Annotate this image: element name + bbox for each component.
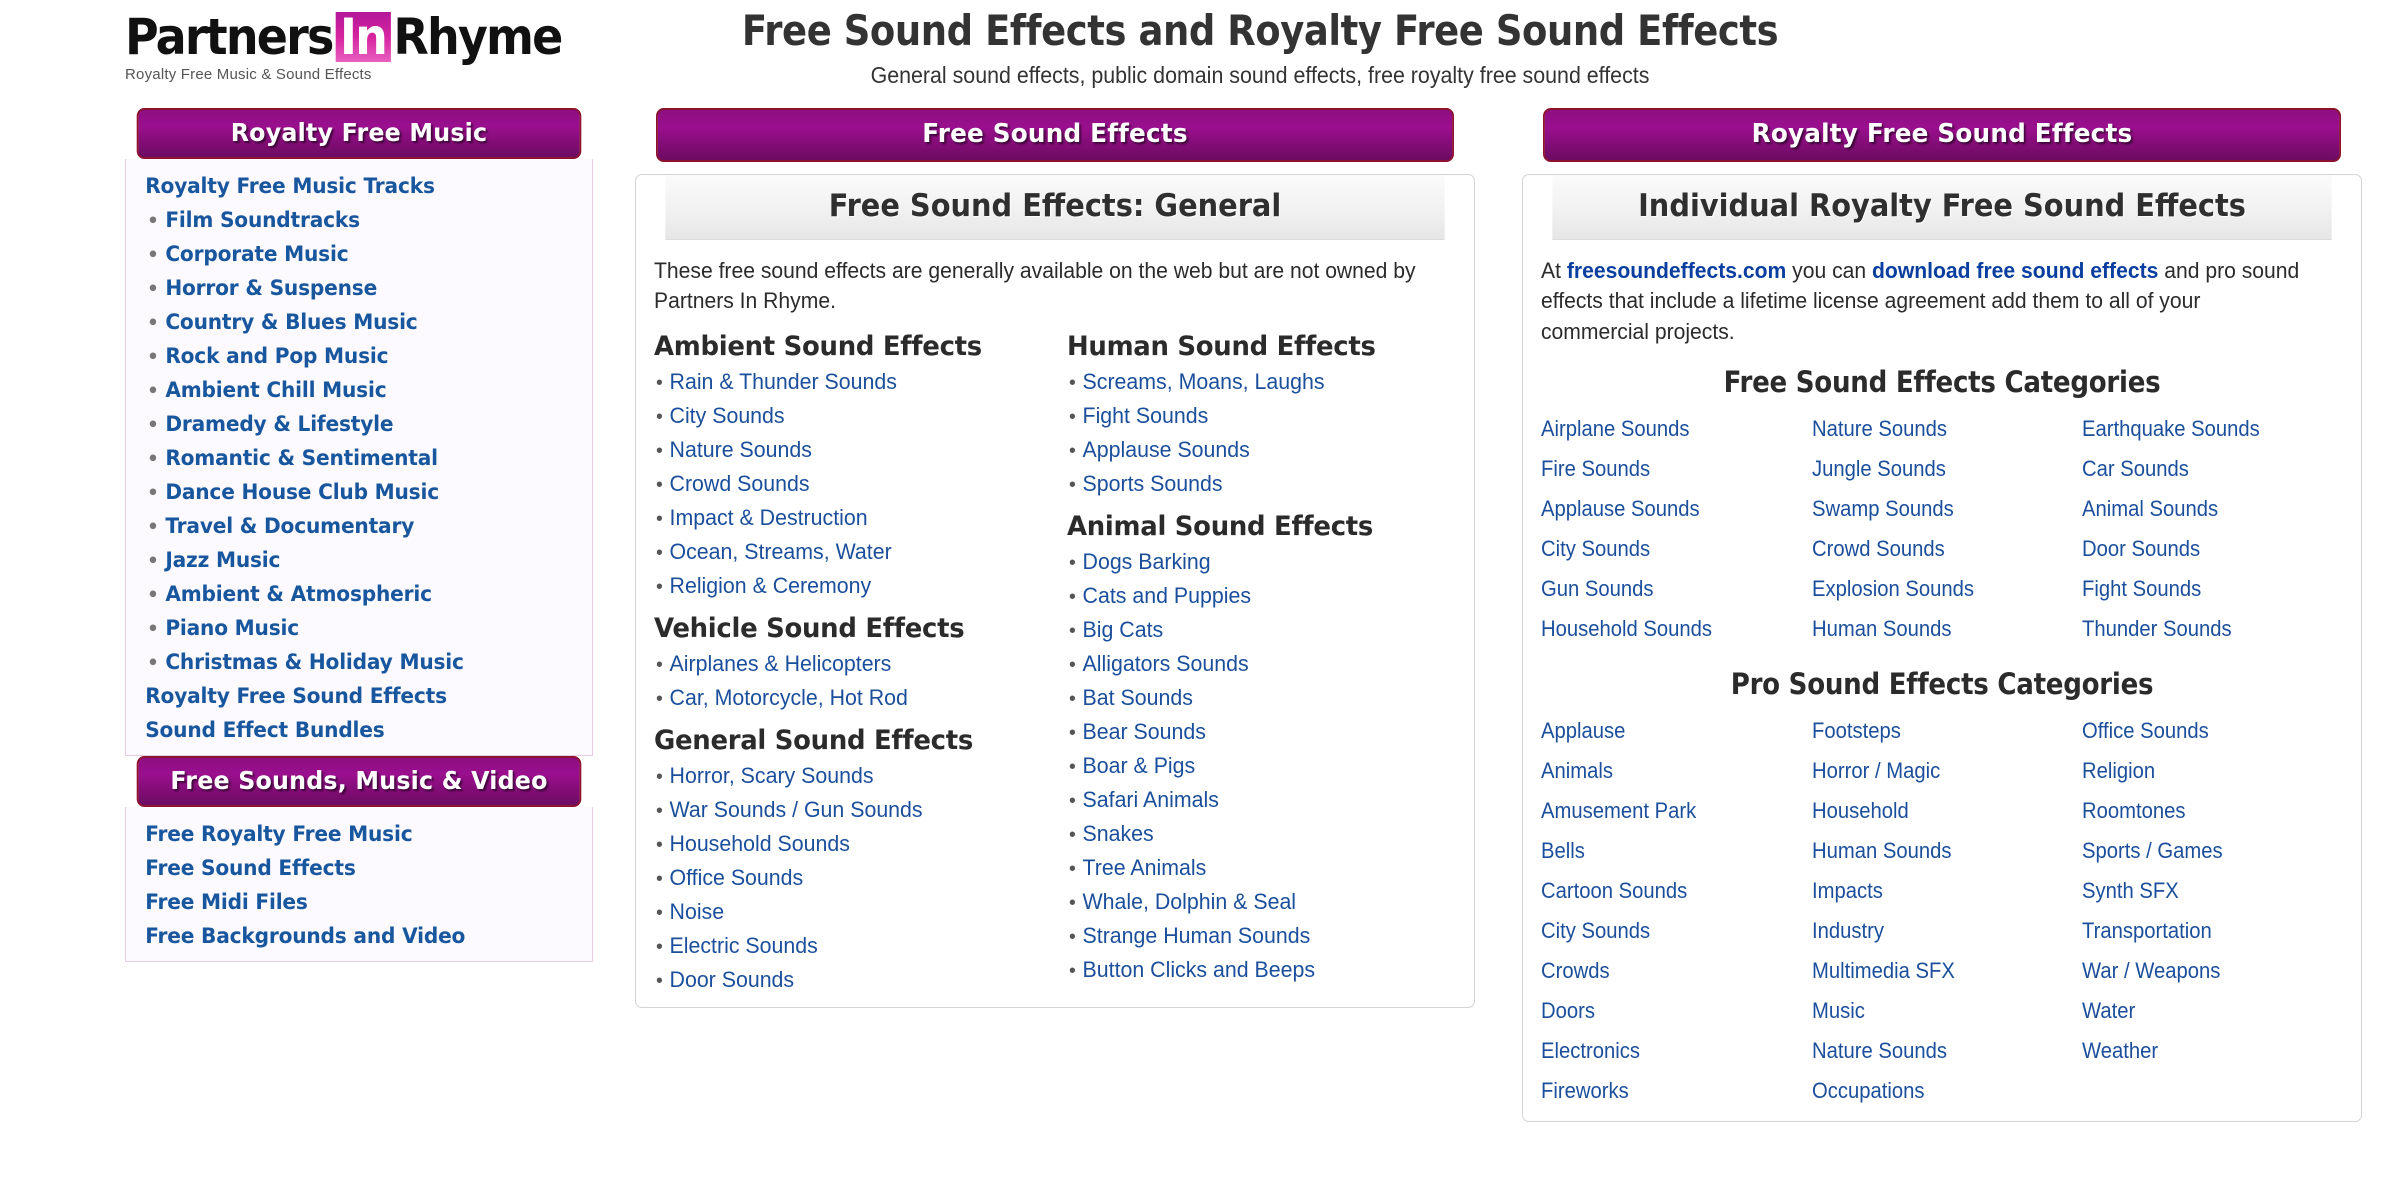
sfx-link-war-sounds-gun-sounds[interactable]: War Sounds / Gun Sounds <box>654 793 1031 827</box>
sfx-link-city-sounds[interactable]: City Sounds <box>654 399 1031 433</box>
intro-prefix: At <box>1541 258 1567 283</box>
section-heading-general-sound-effects: General Sound Effects <box>654 725 1027 756</box>
sidebar-item-royalty-free-music-tracks[interactable]: Royalty Free Music Tracks <box>126 169 573 203</box>
sfx-link-car-motorcycle-hot-rod[interactable]: Car, Motorcycle, Hot Rod <box>654 681 1031 715</box>
pro-category-transportation[interactable]: Transportation <box>2082 911 2322 951</box>
pro-category-household[interactable]: Household <box>1812 791 2052 831</box>
sidebar-item-corporate-music[interactable]: Corporate Music <box>126 237 573 271</box>
pro-category-impacts[interactable]: Impacts <box>1812 871 2052 911</box>
sfx-link-fight-sounds[interactable]: Fight Sounds <box>1067 399 1444 433</box>
link-download-free-sound-effects[interactable]: download free sound effects <box>1872 258 2158 283</box>
sidebar-music-footer-list: Royalty Free Sound EffectsSound Effect B… <box>126 679 592 747</box>
logo-text-in: In <box>335 12 390 62</box>
pro-category-war-weapons[interactable]: War / Weapons <box>2082 951 2322 991</box>
sidebar-item-horror-suspense[interactable]: Horror & Suspense <box>126 271 573 305</box>
right-column: Royalty Free Sound Effects Individual Ro… <box>1522 108 2362 1122</box>
right-panel-body: At freesoundeffects.com you can download… <box>1523 240 2361 1121</box>
sfx-link-electric-sounds[interactable]: Electric Sounds <box>654 929 1031 963</box>
sfx-link-ocean-streams-water[interactable]: Ocean, Streams, Water <box>654 535 1031 569</box>
sidebar-item-dance-house-club-music[interactable]: Dance House Club Music <box>126 475 573 509</box>
pro-category-water[interactable]: Water <box>2082 991 2322 1031</box>
free-category-airplane-sounds[interactable]: Airplane Sounds <box>1541 409 1781 449</box>
logo-wordmark: PartnersInRhyme <box>125 12 557 62</box>
pro-category-industry[interactable]: Industry <box>1812 911 2052 951</box>
sfx-link-tree-animals[interactable]: Tree Animals <box>1067 851 1444 885</box>
center-panel-title: Free Sound Effects: General <box>665 175 1444 240</box>
sfx-link-rain-thunder-sounds[interactable]: Rain & Thunder Sounds <box>654 365 1031 399</box>
pro-categories-heading: Pro Sound Effects Categories <box>1581 667 2303 701</box>
right-banner-royalty-free-sound-effects: Royalty Free Sound Effects <box>1543 108 2341 162</box>
sidebar-item-free-sound-effects[interactable]: Free Sound Effects <box>126 851 573 885</box>
sfx-link-safari-animals[interactable]: Safari Animals <box>1067 783 1444 817</box>
sidebar-item-free-midi-files[interactable]: Free Midi Files <box>126 885 573 919</box>
sidebar-item-piano-music[interactable]: Piano Music <box>126 611 573 645</box>
sidebar-item-romantic-sentimental[interactable]: Romantic & Sentimental <box>126 441 573 475</box>
center-intro-text: These free sound effects are generally a… <box>654 256 1424 317</box>
free-category-household-sounds[interactable]: Household Sounds <box>1541 609 1781 649</box>
pro-category-religion[interactable]: Religion <box>2082 751 2322 791</box>
pro-category-animals[interactable]: Animals <box>1541 751 1781 791</box>
pro-category-nature-sounds[interactable]: Nature Sounds <box>1812 1031 2052 1071</box>
sfx-link-whale-dolphin-seal[interactable]: Whale, Dolphin & Seal <box>1067 885 1444 919</box>
sfx-link-airplanes-helicopters[interactable]: Airplanes & Helicopters <box>654 647 1031 681</box>
pro-category-footsteps[interactable]: Footsteps <box>1812 711 2052 751</box>
sidebar-banner-royalty-free-music: Royalty Free Music <box>137 108 582 159</box>
pro-category-fireworks[interactable]: Fireworks <box>1541 1071 1781 1111</box>
sidebar-item-ambient-chill-music[interactable]: Ambient Chill Music <box>126 373 573 407</box>
center-link-columns: Ambient Sound EffectsRain & Thunder Soun… <box>654 331 1456 997</box>
pro-category-amusement-park[interactable]: Amusement Park <box>1541 791 1781 831</box>
free-category-door-sounds[interactable]: Door Sounds <box>2082 529 2322 569</box>
sidebar-item-ambient-atmospheric[interactable]: Ambient & Atmospheric <box>126 577 573 611</box>
section-heading-animal-sound-effects: Animal Sound Effects <box>1067 511 1440 542</box>
sidebar-item-christmas-holiday-music[interactable]: Christmas & Holiday Music <box>126 645 573 679</box>
page-title: Free Sound Effects and Royalty Free Soun… <box>714 8 1805 54</box>
sfx-link-applause-sounds[interactable]: Applause Sounds <box>1067 433 1444 467</box>
sfx-link-crowd-sounds[interactable]: Crowd Sounds <box>654 467 1031 501</box>
pro-category-multimedia-sfx[interactable]: Multimedia SFX <box>1812 951 2052 991</box>
page-header-text: Free Sound Effects and Royalty Free Soun… <box>640 8 1880 89</box>
pro-category-human-sounds[interactable]: Human Sounds <box>1812 831 2052 871</box>
pro-category-music[interactable]: Music <box>1812 991 2052 1031</box>
sfx-link-strange-human-sounds[interactable]: Strange Human Sounds <box>1067 919 1444 953</box>
sfx-link-religion-ceremony[interactable]: Religion & Ceremony <box>654 569 1031 603</box>
center-panel-body: These free sound effects are generally a… <box>636 240 1474 1007</box>
sfx-link-bear-sounds[interactable]: Bear Sounds <box>1067 715 1444 749</box>
free-category-fight-sounds[interactable]: Fight Sounds <box>2082 569 2322 609</box>
sidebar-item-free-royalty-free-music[interactable]: Free Royalty Free Music <box>126 817 573 851</box>
link-freesoundeffects-com[interactable]: freesoundeffects.com <box>1567 258 1786 283</box>
center-banner-free-sound-effects: Free Sound Effects <box>656 108 1454 162</box>
right-intro-text: At freesoundeffects.com you can download… <box>1541 256 2311 347</box>
page-subtitle: General sound effects, public domain sou… <box>683 62 1836 89</box>
sidebar-item-rock-and-pop-music[interactable]: Rock and Pop Music <box>126 339 573 373</box>
right-panel-title: Individual Royalty Free Sound Effects <box>1552 175 2331 240</box>
pro-category-weather[interactable]: Weather <box>2082 1031 2322 1071</box>
pro-category-sports-games[interactable]: Sports / Games <box>2082 831 2322 871</box>
sfx-link-noise[interactable]: Noise <box>654 895 1031 929</box>
pro-category-occupations[interactable]: Occupations <box>1812 1071 2052 1111</box>
center-column: Free Sound Effects Free Sound Effects: G… <box>635 108 1475 1008</box>
free-category-gun-sounds[interactable]: Gun Sounds <box>1541 569 1781 609</box>
pro-category-electronics[interactable]: Electronics <box>1541 1031 1781 1071</box>
pro-category-city-sounds[interactable]: City Sounds <box>1541 911 1781 951</box>
section-heading-human-sound-effects: Human Sound Effects <box>1067 331 1440 362</box>
section-heading-vehicle-sound-effects: Vehicle Sound Effects <box>654 613 1027 644</box>
sidebar: Royalty Free Music Royalty Free Music Tr… <box>125 108 593 962</box>
sidebar-item-jazz-music[interactable]: Jazz Music <box>126 543 573 577</box>
logo-text-rhyme: Rhyme <box>393 8 561 66</box>
free-category-city-sounds[interactable]: City Sounds <box>1541 529 1781 569</box>
right-panel: Individual Royalty Free Sound Effects At… <box>1522 174 2362 1122</box>
sfx-link-screams-moans-laughs[interactable]: Screams, Moans, Laughs <box>1067 365 1444 399</box>
logo-text-partners: Partners <box>125 8 332 66</box>
site-logo[interactable]: PartnersInRhyme Royalty Free Music & Sou… <box>125 12 595 83</box>
logo-tagline: Royalty Free Music & Sound Effects <box>125 66 595 83</box>
sidebar-free-list: Free Royalty Free MusicFree Sound Effect… <box>126 817 592 953</box>
free-categories-heading: Free Sound Effects Categories <box>1581 365 2303 399</box>
free-category-crowd-sounds[interactable]: Crowd Sounds <box>1812 529 2052 569</box>
free-category-car-sounds[interactable]: Car Sounds <box>2082 449 2322 489</box>
free-category-swamp-sounds[interactable]: Swamp Sounds <box>1812 489 2052 529</box>
sidebar-item-travel-documentary[interactable]: Travel & Documentary <box>126 509 573 543</box>
free-category-explosion-sounds[interactable]: Explosion Sounds <box>1812 569 2052 609</box>
pro-category-doors[interactable]: Doors <box>1541 991 1781 1031</box>
sfx-link-alligators-sounds[interactable]: Alligators Sounds <box>1067 647 1444 681</box>
sfx-link-boar-pigs[interactable]: Boar & Pigs <box>1067 749 1444 783</box>
pro-category-applause[interactable]: Applause <box>1541 711 1781 751</box>
free-category-applause-sounds[interactable]: Applause Sounds <box>1541 489 1781 529</box>
sfx-link-big-cats[interactable]: Big Cats <box>1067 613 1444 647</box>
sfx-link-button-clicks-and-beeps[interactable]: Button Clicks and Beeps <box>1067 953 1444 987</box>
pro-category-office-sounds[interactable]: Office Sounds <box>2082 711 2322 751</box>
free-category-animal-sounds[interactable]: Animal Sounds <box>2082 489 2322 529</box>
free-category-thunder-sounds[interactable]: Thunder Sounds <box>2082 609 2322 649</box>
pro-category-synth-sfx[interactable]: Synth SFX <box>2082 871 2322 911</box>
free-category-jungle-sounds[interactable]: Jungle Sounds <box>1812 449 2052 489</box>
sfx-link-horror-scary-sounds[interactable]: Horror, Scary Sounds <box>654 759 1031 793</box>
main-columns: Royalty Free Music Royalty Free Music Tr… <box>0 108 2400 1122</box>
free-categories-grid: Airplane SoundsNature SoundsEarthquake S… <box>1541 409 2343 649</box>
sidebar-banner-free-sounds-music-video: Free Sounds, Music & Video <box>137 756 582 807</box>
intro-middle: you can <box>1786 258 1872 283</box>
free-category-nature-sounds[interactable]: Nature Sounds <box>1812 409 2052 449</box>
sfx-link-door-sounds[interactable]: Door Sounds <box>654 963 1031 997</box>
pro-category-crowds[interactable]: Crowds <box>1541 951 1781 991</box>
sidebar-item-dramedy-lifestyle[interactable]: Dramedy & Lifestyle <box>126 407 573 441</box>
sidebar-item-free-backgrounds-and-video[interactable]: Free Backgrounds and Video <box>126 919 573 953</box>
sidebar-item-film-soundtracks[interactable]: Film Soundtracks <box>126 203 573 237</box>
pro-category-roomtones[interactable]: Roomtones <box>2082 791 2322 831</box>
pro-categories-grid: ApplauseFootstepsOffice SoundsAnimalsHor… <box>1541 711 2343 1111</box>
center-right-section-list: Human Sound EffectsScreams, Moans, Laugh… <box>1067 331 1456 997</box>
sidebar-item-sound-effect-bundles[interactable]: Sound Effect Bundles <box>126 713 573 747</box>
page-masthead: PartnersInRhyme Royalty Free Music & Sou… <box>0 0 2400 108</box>
free-category-human-sounds[interactable]: Human Sounds <box>1812 609 2052 649</box>
sidebar-music-box: Royalty Free Music Tracks Film Soundtrac… <box>125 159 593 756</box>
sfx-link-dogs-barking[interactable]: Dogs Barking <box>1067 545 1444 579</box>
center-panel: Free Sound Effects: General These free s… <box>635 174 1475 1008</box>
pro-category-cartoon-sounds[interactable]: Cartoon Sounds <box>1541 871 1781 911</box>
sidebar-music-list: Film SoundtracksCorporate MusicHorror & … <box>126 203 592 679</box>
sfx-link-nature-sounds[interactable]: Nature Sounds <box>654 433 1031 467</box>
sfx-link-snakes[interactable]: Snakes <box>1067 817 1444 851</box>
sidebar-item-royalty-free-sound-effects[interactable]: Royalty Free Sound Effects <box>126 679 573 713</box>
sfx-link-cats-and-puppies[interactable]: Cats and Puppies <box>1067 579 1444 613</box>
free-category-fire-sounds[interactable]: Fire Sounds <box>1541 449 1781 489</box>
sfx-link-bat-sounds[interactable]: Bat Sounds <box>1067 681 1444 715</box>
free-category-earthquake-sounds[interactable]: Earthquake Sounds <box>2082 409 2322 449</box>
sfx-link-household-sounds[interactable]: Household Sounds <box>654 827 1031 861</box>
pro-category-horror-magic[interactable]: Horror / Magic <box>1812 751 2052 791</box>
sidebar-free-box: Free Royalty Free MusicFree Sound Effect… <box>125 807 593 962</box>
sfx-link-impact-destruction[interactable]: Impact & Destruction <box>654 501 1031 535</box>
section-heading-ambient-sound-effects: Ambient Sound Effects <box>654 331 1027 362</box>
sfx-link-sports-sounds[interactable]: Sports Sounds <box>1067 467 1444 501</box>
sidebar-item-country-blues-music[interactable]: Country & Blues Music <box>126 305 573 339</box>
center-left-section-list: Ambient Sound EffectsRain & Thunder Soun… <box>654 331 1043 997</box>
pro-category-bells[interactable]: Bells <box>1541 831 1781 871</box>
sfx-link-office-sounds[interactable]: Office Sounds <box>654 861 1031 895</box>
